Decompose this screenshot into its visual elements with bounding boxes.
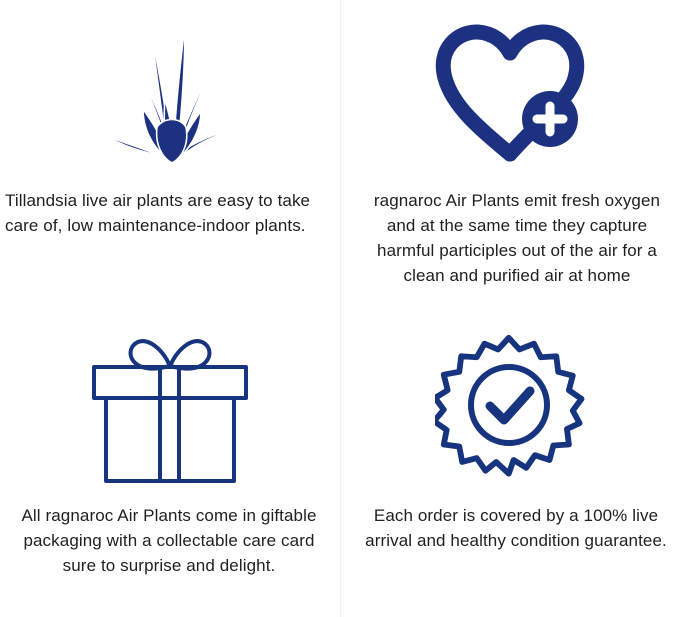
verified-badge-check-icon <box>435 330 585 482</box>
icon-area <box>0 0 340 188</box>
feature-caption: ragnaroc Air Plants emit fresh oxygen an… <box>341 188 679 288</box>
feature-grid: Tillandsia live air plants are easy to t… <box>0 0 679 617</box>
feature-panel-air-plant: Tillandsia live air plants are easy to t… <box>0 0 341 308</box>
feature-caption: All ragnaroc Air Plants come in giftable… <box>0 503 340 578</box>
feature-panel-live-arrival-guarantee: Each order is covered by a 100% live arr… <box>341 308 679 617</box>
feature-panel-fresh-oxygen: ragnaroc Air Plants emit fresh oxygen an… <box>341 0 679 308</box>
gift-box-icon <box>80 326 260 486</box>
feature-caption: Tillandsia live air plants are easy to t… <box>0 188 340 238</box>
icon-area <box>341 308 679 503</box>
icon-area <box>341 0 679 188</box>
heart-plus-health-icon <box>433 23 588 165</box>
tillandsia-air-plant-icon <box>81 23 259 165</box>
icon-area <box>0 308 340 503</box>
feature-panel-giftable-packaging: All ragnaroc Air Plants come in giftable… <box>0 308 341 617</box>
feature-caption: Each order is covered by a 100% live arr… <box>341 503 679 553</box>
